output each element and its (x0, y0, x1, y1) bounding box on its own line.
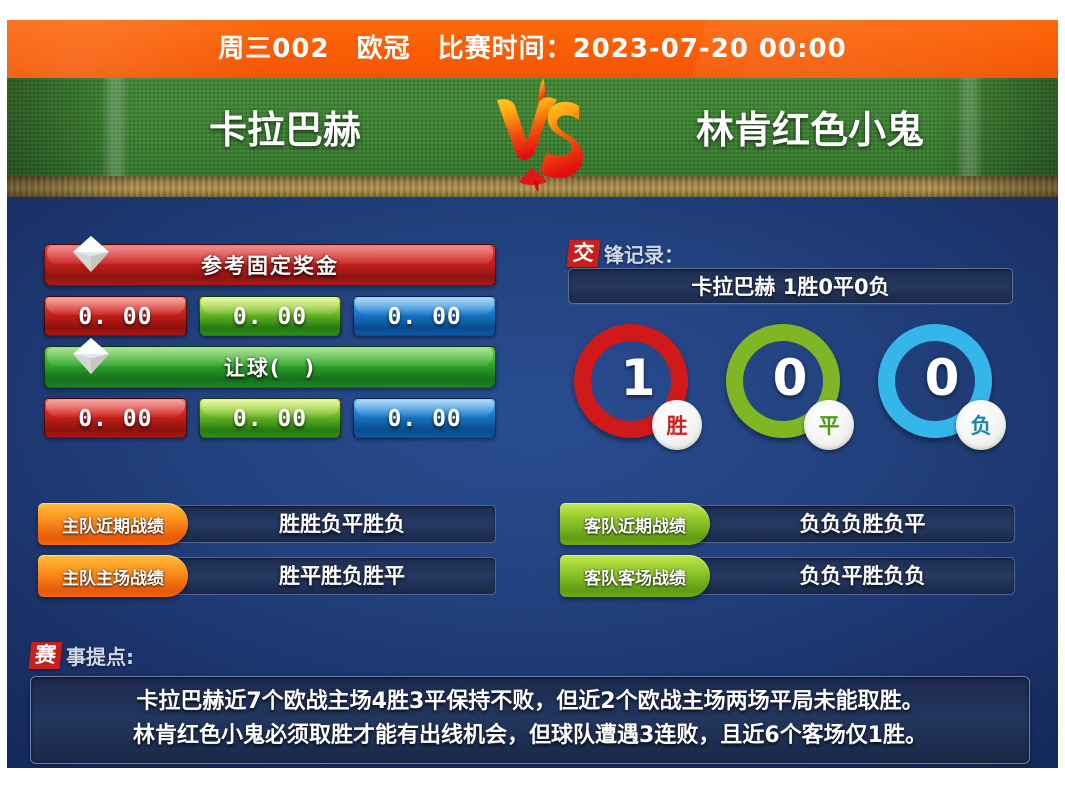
analysis-badge: 赛 (29, 642, 63, 669)
away-away-form-row: 客队客场战绩 负负平胜负负 (560, 557, 1015, 595)
handicap-odd-win[interactable]: 0. 00 (44, 398, 187, 438)
ring-draw-tag: 平 (804, 400, 854, 450)
diamond-gem-icon (71, 234, 111, 274)
dirt-vignette-left (7, 176, 137, 197)
frame-edge-bottom (0, 768, 1065, 797)
grass-vignette-left (7, 78, 137, 186)
home-home-form-row: 主队主场战绩 胜平胜负胜平 (38, 557, 496, 595)
frame-edge-right (1058, 0, 1065, 797)
match-preview-page: 周三002 欧冠 比赛时间：2023-07-20 00:00 卡拉巴赫 林肯红色… (0, 0, 1065, 797)
head-to-head-label: 交 锋记录： (568, 238, 1013, 268)
header-band: 周三002 欧冠 比赛时间：2023-07-20 00:00 (7, 20, 1058, 78)
fixed-prize-title: 参考固定奖金 (45, 245, 495, 287)
odd-value: 0. 00 (354, 297, 495, 336)
odd-value: 0. 00 (200, 399, 341, 438)
handicap-header: 让球( ) (44, 346, 496, 388)
head-to-head-panel: 交 锋记录： 卡拉巴赫 1胜0平0负 1 胜 0 平 0 负 (568, 238, 1013, 468)
odd-value: 0. 00 (200, 297, 341, 336)
analysis-label: 赛 事提点: (30, 640, 1030, 670)
away-away-form-value: 负负平胜负负 (710, 557, 1015, 595)
head-to-head-summary-text: 卡拉巴赫 1胜0平0负 (569, 269, 1012, 305)
handicap-odd-lose[interactable]: 0. 00 (353, 398, 496, 438)
away-recent-form-row: 客队近期战绩 负负负胜负平 (560, 505, 1015, 543)
head-to-head-rings: 1 胜 0 平 0 负 (568, 318, 1013, 468)
form-label-text: 主队主场战绩 (62, 564, 164, 589)
analysis-box: 卡拉巴赫近7个欧战主场4胜3平保持不败，但近2个欧战主场两场平局未能取胜。 林肯… (30, 676, 1030, 764)
fixed-prize-odd-win[interactable]: 0. 00 (44, 296, 187, 336)
home-recent-form-value: 胜胜负平胜负 (188, 505, 496, 543)
fixed-prize-odd-lose[interactable]: 0. 00 (353, 296, 496, 336)
odds-panel: 参考固定奖金 0. 00 0. 00 0. 00 (44, 244, 496, 448)
head-to-head-label-text: 锋记录： (604, 239, 684, 268)
home-home-form-label: 主队主场战绩 (38, 555, 188, 597)
home-team-name: 卡拉巴赫 (120, 98, 450, 162)
head-to-head-summary: 卡拉巴赫 1胜0平0负 (568, 268, 1013, 304)
ring-draw: 0 平 (726, 324, 852, 464)
header-title: 周三002 欧冠 比赛时间：2023-07-20 00:00 (7, 20, 1058, 78)
fixed-prize-header: 参考固定奖金 (44, 244, 496, 286)
vs-flame-icon (487, 76, 593, 192)
handicap-title: 让球( ) (45, 347, 495, 389)
home-recent-form-label: 主队近期战绩 (38, 503, 188, 545)
away-team-name: 林肯红色小鬼 (620, 98, 1000, 162)
frame-edge-top (0, 0, 1065, 20)
analysis-label-text: 事提点: (66, 641, 134, 670)
form-label-text: 主队近期战绩 (62, 512, 164, 537)
form-label-text: 客队客场战绩 (584, 564, 686, 589)
head-to-head-badge: 交 (567, 240, 601, 267)
away-recent-form-value: 负负负胜负平 (710, 505, 1015, 543)
ring-win: 1 胜 (574, 324, 700, 464)
handicap-odd-draw[interactable]: 0. 00 (199, 398, 342, 438)
home-home-form-value: 胜平胜负胜平 (188, 557, 496, 595)
analysis-section: 赛 事提点: 卡拉巴赫近7个欧战主场4胜3平保持不败，但近2个欧战主场两场平局未… (30, 640, 1030, 764)
handicap-odds-row: 0. 00 0. 00 0. 00 (44, 398, 496, 438)
diamond-gem-icon (71, 336, 111, 376)
analysis-line: 卡拉巴赫近7个欧战主场4胜3平保持不败，但近2个欧战主场两场平局未能取胜。 (43, 685, 1017, 719)
odd-value: 0. 00 (354, 399, 495, 438)
analysis-line: 林肯红色小鬼必须取胜才能有出线机会，但球队遭遇3连败，且近6个客场仅1胜。 (43, 719, 1017, 753)
dirt-vignette-right (928, 176, 1058, 197)
fixed-prize-odds-row: 0. 00 0. 00 0. 00 (44, 296, 496, 336)
ring-lose-tag: 负 (956, 400, 1006, 450)
home-form-block: 主队近期战绩 胜胜负平胜负 主队主场战绩 胜平胜负胜平 (38, 505, 496, 609)
fixed-prize-odd-draw[interactable]: 0. 00 (199, 296, 342, 336)
odd-value: 0. 00 (45, 399, 186, 438)
ring-win-tag: 胜 (652, 400, 702, 450)
home-recent-form-row: 主队近期战绩 胜胜负平胜负 (38, 505, 496, 543)
away-away-form-label: 客队客场战绩 (560, 555, 710, 597)
ring-lose: 0 负 (878, 324, 1004, 464)
away-form-block: 客队近期战绩 负负负胜负平 客队客场战绩 负负平胜负负 (560, 505, 1015, 609)
odd-value: 0. 00 (45, 297, 186, 336)
away-recent-form-label: 客队近期战绩 (560, 503, 710, 545)
form-label-text: 客队近期战绩 (584, 512, 686, 537)
frame-edge-left (0, 0, 7, 797)
